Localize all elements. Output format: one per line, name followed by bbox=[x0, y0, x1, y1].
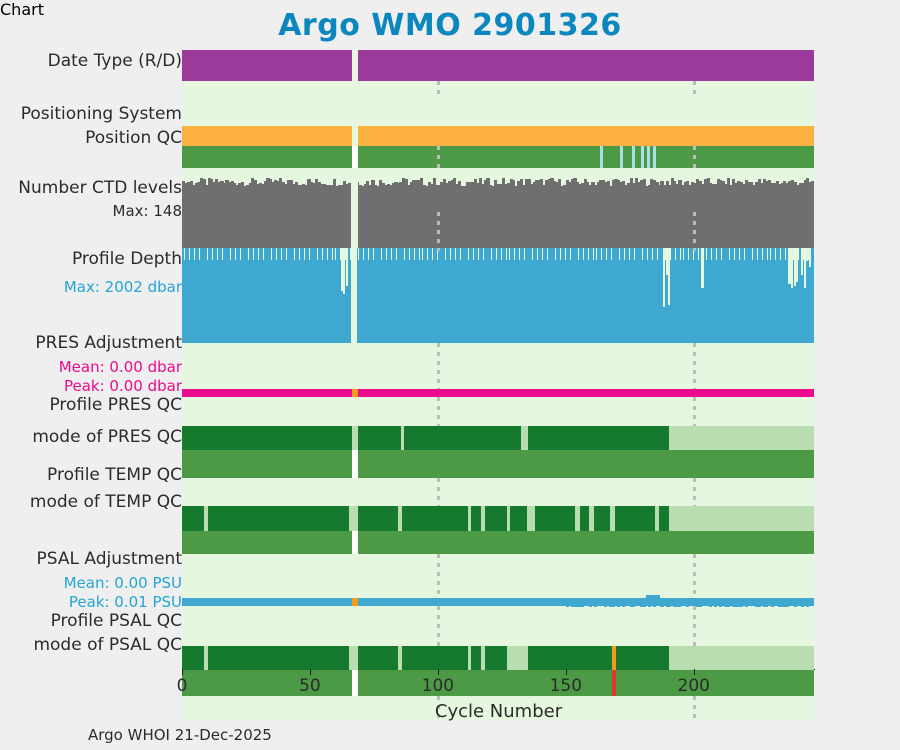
pres-adjustment-line bbox=[358, 389, 814, 397]
label-profile-depth: Profile Depth bbox=[72, 249, 182, 270]
psal-adjustment-noise bbox=[699, 604, 702, 607]
line-pres-adjustment[interactable] bbox=[182, 389, 814, 397]
argo-float-track-plot[interactable] bbox=[182, 50, 814, 670]
page-title: Argo WMO 2901326 bbox=[0, 8, 900, 43]
label-psal-adjustment: PSAL Adjustment bbox=[37, 549, 182, 570]
x-axis-tick bbox=[310, 669, 311, 675]
profile-depth-dip bbox=[346, 248, 348, 286]
band-positioning-system[interactable] bbox=[182, 126, 814, 146]
gridline-dotted bbox=[693, 606, 696, 646]
mode-psal-qc-gap bbox=[352, 670, 358, 696]
profile-depth-dip bbox=[668, 248, 670, 305]
psal-adjustment-noise bbox=[643, 604, 646, 607]
label-position-qc: Position QC bbox=[85, 128, 182, 149]
profile-temp-qc-segment bbox=[485, 506, 507, 531]
psal-adjustment-noise bbox=[727, 604, 730, 607]
label-ctd-levels: Number CTD levels bbox=[18, 178, 182, 199]
gridline-dotted bbox=[437, 554, 440, 598]
psal-adjustment-noise bbox=[622, 604, 625, 607]
x-axis-tick bbox=[566, 669, 567, 675]
profile-psal-qc-segment bbox=[208, 646, 349, 670]
gridline-dotted bbox=[693, 397, 696, 426]
position-qc-flag bbox=[620, 146, 623, 168]
psal-adjustment-anomaly bbox=[182, 595, 814, 600]
band-profile-psal-qc[interactable] bbox=[182, 646, 814, 670]
x-axis-tick-label: 100 bbox=[422, 676, 454, 696]
psal-adjustment-noise bbox=[566, 604, 569, 607]
psal-adjustment-noise bbox=[801, 604, 804, 607]
gridline-dotted bbox=[437, 212, 440, 248]
date-type-segment bbox=[182, 50, 352, 81]
band-mode-of-pres-qc[interactable] bbox=[182, 450, 814, 478]
track-ctd-levels-group[interactable] bbox=[182, 168, 814, 248]
positioning-system-segment bbox=[358, 126, 814, 146]
x-axis-tick-label: 200 bbox=[678, 676, 710, 696]
x-axis-title: Cycle Number bbox=[182, 701, 815, 722]
psal-adjustment-noise bbox=[581, 604, 584, 607]
label-mode-of-temp-qc: mode of TEMP QC bbox=[30, 492, 182, 513]
profile-psal-qc-segment bbox=[471, 646, 481, 670]
label-mode-of-pres-qc: mode of PRES QC bbox=[32, 427, 182, 448]
bar-series-ctd-levels[interactable] bbox=[182, 168, 814, 248]
label-profile-psal-qc: Profile PSAL QC bbox=[51, 611, 182, 632]
psal-adjustment-noise bbox=[660, 604, 663, 607]
band-position-qc[interactable] bbox=[182, 146, 814, 168]
label-pres-peak: Peak: 0.00 dbar bbox=[64, 376, 182, 397]
track-pres-group[interactable] bbox=[182, 343, 814, 450]
x-axis-tick bbox=[438, 669, 439, 675]
psal-adjustment-noise bbox=[632, 604, 635, 607]
label-profile-depth-max: Max: 2002 dbar bbox=[64, 277, 182, 298]
profile-temp-qc-segment bbox=[182, 506, 204, 531]
position-qc-flag bbox=[653, 146, 656, 168]
psal-adjustment-noise bbox=[612, 604, 615, 607]
psal-anomaly-peak bbox=[646, 595, 660, 600]
psal-adjustment-noise bbox=[786, 604, 789, 607]
gridline-dotted bbox=[693, 478, 696, 506]
profile-temp-qc-segment bbox=[659, 506, 669, 531]
gridline-dotted bbox=[693, 212, 696, 248]
gridline-dotted bbox=[693, 146, 696, 168]
x-axis-tick bbox=[694, 669, 695, 675]
x-axis-tick-label: 150 bbox=[550, 676, 582, 696]
psal-adjustment-noise bbox=[771, 604, 774, 607]
profile-depth-dip bbox=[796, 248, 798, 282]
psal-adjustment-noise bbox=[594, 604, 597, 607]
mode-temp-qc-gap bbox=[352, 531, 358, 554]
profile-temp-qc-segment bbox=[535, 506, 575, 531]
band-mode-of-psal-qc[interactable] bbox=[182, 670, 814, 696]
psal-adjustment-noise bbox=[714, 604, 717, 607]
psal-adjustment-noise bbox=[794, 604, 797, 607]
profile-pres-qc-segment bbox=[528, 426, 669, 450]
label-psal-peak: Peak: 0.01 PSU bbox=[69, 592, 182, 613]
gridline-dotted bbox=[437, 81, 440, 94]
label-pres-mean: Mean: 0.00 dbar bbox=[59, 357, 182, 378]
label-positioning-system: Positioning System bbox=[21, 104, 182, 125]
gridline-dotted bbox=[437, 343, 440, 389]
label-mode-of-psal-qc: mode of PSAL QC bbox=[33, 635, 182, 656]
psal-adjustment-noise bbox=[758, 604, 761, 607]
label-profile-pres-qc: Profile PRES QC bbox=[49, 395, 182, 416]
band-date-type[interactable] bbox=[182, 50, 814, 81]
psal-adjustment-noise bbox=[686, 604, 689, 607]
psal-adjustment-noise bbox=[648, 604, 651, 607]
psal-adjustment-noise bbox=[765, 604, 768, 607]
mode-pres-qc-segment bbox=[182, 450, 814, 478]
ctd-levels-gap bbox=[352, 168, 358, 248]
bar-series-profile-depth[interactable] bbox=[182, 248, 814, 343]
psal-adjustment-noise bbox=[589, 604, 592, 607]
date-type-segment bbox=[358, 50, 814, 81]
profile-psal-qc-flag bbox=[612, 646, 616, 670]
positioning-system-segment bbox=[182, 126, 352, 146]
psal-adjustment-noise bbox=[740, 604, 743, 607]
x-axis-tick-label: 50 bbox=[299, 676, 321, 696]
profile-depth-gap bbox=[352, 248, 357, 343]
psal-adjustment-noise bbox=[604, 604, 607, 607]
profile-psal-qc-segment bbox=[528, 646, 669, 670]
band-profile-temp-qc[interactable] bbox=[182, 506, 814, 531]
psal-adjustment-noise bbox=[709, 604, 712, 607]
psal-adjustment-noise bbox=[653, 604, 656, 607]
x-axis-tick-label: 0 bbox=[177, 676, 188, 696]
gridline-dotted bbox=[437, 397, 440, 426]
mode-temp-qc-segment bbox=[182, 531, 814, 554]
profile-temp-qc-segment bbox=[615, 506, 655, 531]
ctd-levels-bar bbox=[811, 181, 814, 248]
track-mode-psal-qc[interactable] bbox=[182, 670, 814, 696]
profile-pres-qc-segment bbox=[404, 426, 521, 450]
label-date-type: Date Type (R/D) bbox=[48, 51, 182, 72]
gridline-dotted bbox=[437, 478, 440, 506]
position-qc-flag bbox=[632, 146, 635, 168]
position-qc-flag bbox=[641, 146, 644, 168]
track-positioning-group[interactable] bbox=[182, 94, 814, 168]
profile-psal-qc-segment bbox=[182, 646, 204, 670]
profile-depth-dip bbox=[701, 248, 703, 288]
psal-adjustment-noise bbox=[719, 604, 722, 607]
mode-pres-qc-gap bbox=[352, 450, 358, 478]
position-qc-flag bbox=[647, 146, 650, 168]
profile-temp-qc-segment bbox=[402, 506, 468, 531]
band-profile-pres-qc[interactable] bbox=[182, 426, 814, 450]
track-mode-pres-qc[interactable] bbox=[182, 450, 814, 478]
position-qc-segment bbox=[182, 146, 814, 168]
gridline-dotted bbox=[693, 248, 696, 251]
profile-temp-qc-segment bbox=[510, 506, 527, 531]
profile-psal-qc-segment bbox=[402, 646, 468, 670]
gridline-dotted bbox=[437, 606, 440, 646]
psal-adjustment-noise bbox=[745, 604, 748, 607]
profile-temp-qc-segment bbox=[471, 506, 481, 531]
track-profile-depth-group[interactable] bbox=[182, 248, 814, 343]
position-qc-flag bbox=[600, 146, 603, 168]
track-temp-group[interactable] bbox=[182, 478, 814, 554]
profile-temp-qc-segment bbox=[580, 506, 589, 531]
profile-depth-dip bbox=[809, 248, 811, 267]
position-qc-gap bbox=[352, 146, 358, 168]
profile-temp-qc-segment bbox=[208, 506, 349, 531]
mode-psal-qc-flag bbox=[612, 670, 616, 696]
label-pres-adjustment: PRES Adjustment bbox=[35, 333, 182, 354]
track-psal-group[interactable] bbox=[182, 554, 814, 670]
gridline-dotted bbox=[693, 81, 696, 94]
label-psal-mean: Mean: 0.00 PSU bbox=[64, 573, 182, 594]
gridline-dotted bbox=[693, 554, 696, 598]
pres-adjustment-line bbox=[182, 389, 352, 397]
profile-depth-body bbox=[182, 260, 814, 343]
gridline-dotted bbox=[437, 248, 440, 251]
gridline-dotted bbox=[693, 343, 696, 389]
psal-adjustment-noise bbox=[617, 604, 620, 607]
x-axis-tick bbox=[182, 669, 183, 675]
mode-psal-qc-segment bbox=[182, 670, 814, 696]
label-profile-temp-qc: Profile TEMP QC bbox=[47, 465, 182, 486]
label-ctd-levels-max: Max: 148 bbox=[113, 201, 182, 222]
footer-credit: Argo WHOI 21-Dec-2025 bbox=[88, 726, 272, 744]
profile-temp-qc-segment bbox=[594, 506, 610, 531]
profile-temp-qc-segment bbox=[358, 506, 398, 531]
psal-adjustment-noise bbox=[678, 604, 681, 607]
profile-psal-qc-segment bbox=[358, 646, 398, 670]
gridline-dotted bbox=[437, 146, 440, 168]
profile-pres-qc-segment bbox=[358, 426, 401, 450]
profile-pres-qc-segment bbox=[182, 426, 352, 450]
psal-adjustment-noise bbox=[668, 604, 671, 607]
profile-psal-qc-segment bbox=[485, 646, 507, 670]
psal-adjustment-noise bbox=[806, 604, 809, 607]
track-date-type-group[interactable] bbox=[182, 50, 814, 94]
band-mode-of-temp-qc[interactable] bbox=[182, 531, 814, 554]
